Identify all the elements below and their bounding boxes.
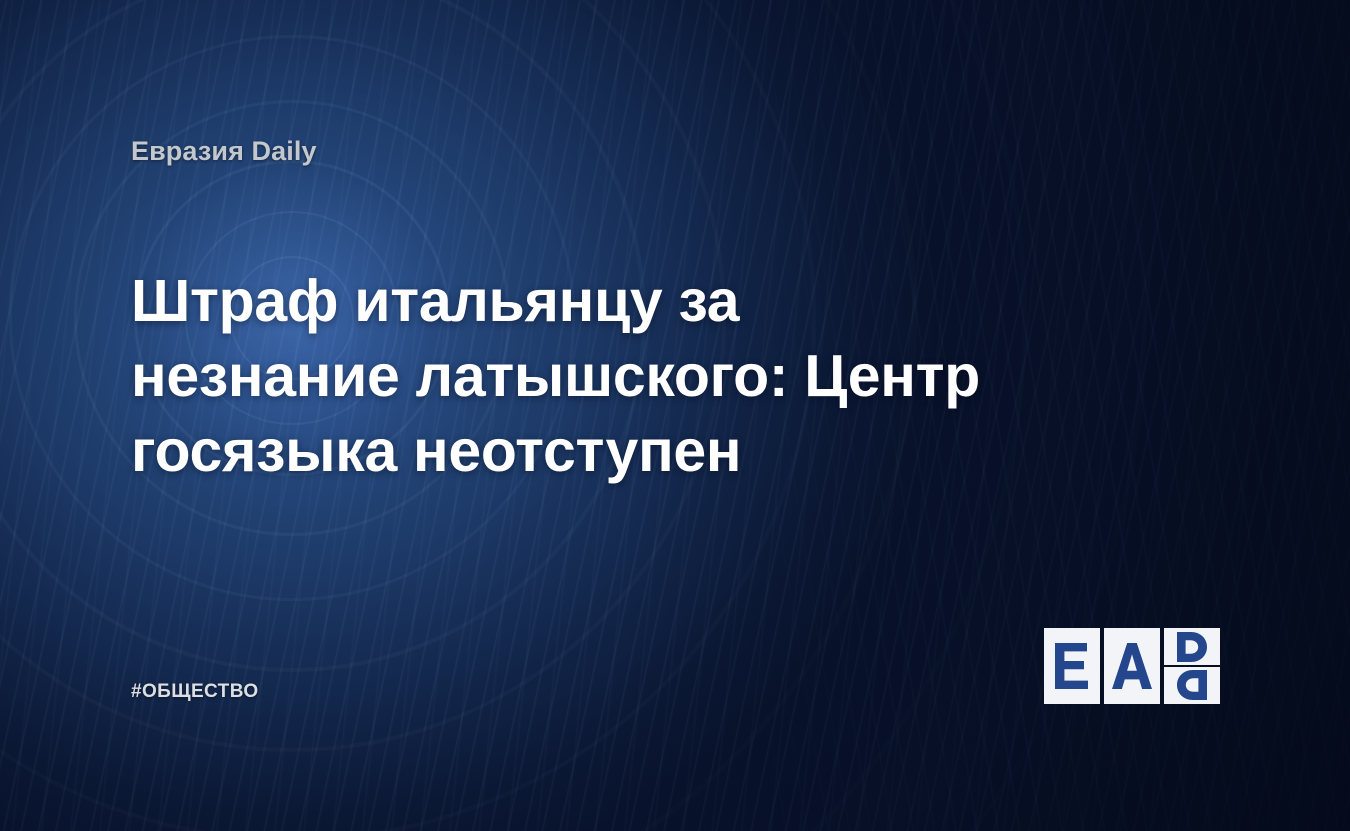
logo-tile-e [1044, 628, 1100, 704]
letter-a-icon [1112, 643, 1152, 689]
news-cover-card: Евразия Daily Штраф итальянцу за незнани… [0, 0, 1350, 831]
logo-tile-a [1104, 628, 1160, 704]
eadaily-logo[interactable] [1044, 628, 1221, 704]
letter-d-icon [1177, 632, 1207, 662]
logo-half-d-lower [1164, 667, 1220, 704]
logo-half-d-upper [1164, 628, 1220, 665]
category-tag[interactable]: #ОБЩЕСТВО [131, 681, 259, 703]
letter-e-icon [1055, 643, 1089, 689]
page-title: Штраф итальянцу за незнание латышского: … [131, 264, 1011, 489]
brand-title: Евразия Daily [131, 136, 317, 167]
letter-d-mirrored-icon [1177, 671, 1207, 701]
logo-tile-d-split [1164, 628, 1220, 704]
